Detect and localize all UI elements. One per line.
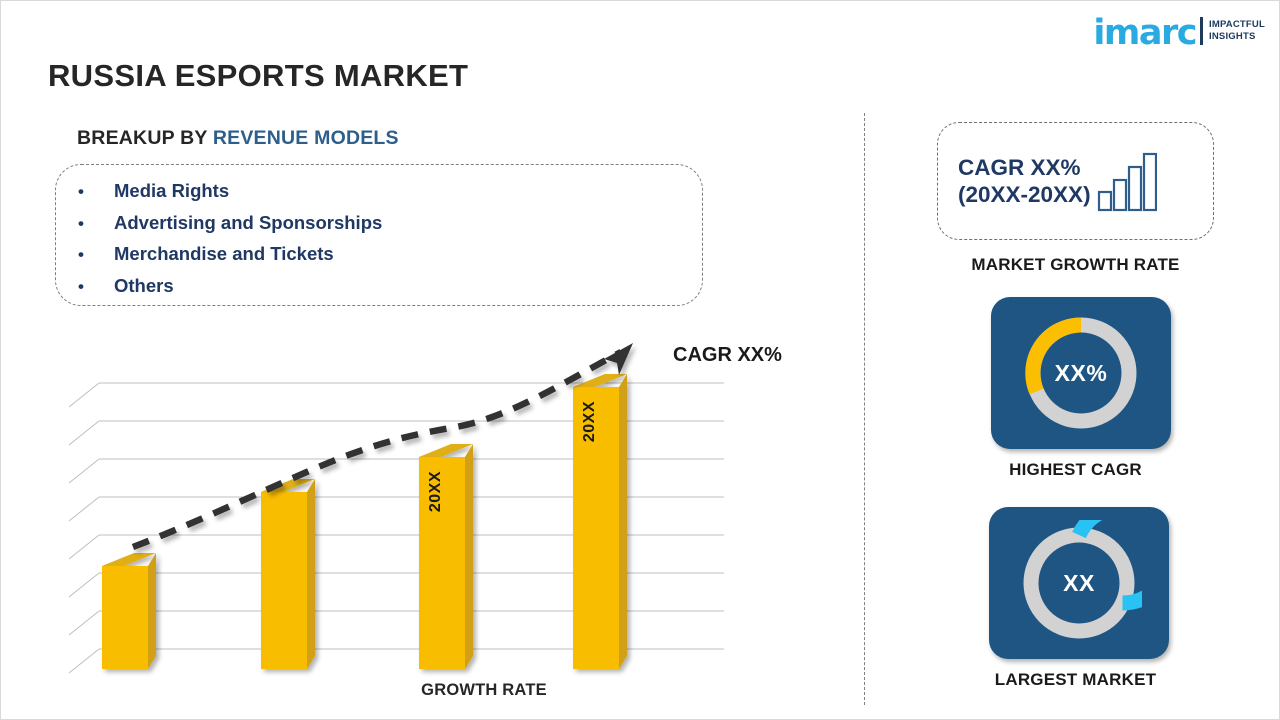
x-axis-label: GROWTH RATE xyxy=(349,681,619,700)
largest-market-value: XX xyxy=(1063,570,1095,597)
list-item-label: Advertising and Sponsorships xyxy=(114,208,382,239)
list-item: • Media Rights xyxy=(56,176,702,208)
highest-cagr-tile: XX% xyxy=(991,297,1171,449)
bullet-icon: • xyxy=(78,272,114,303)
list-item: • Merchandise and Tickets xyxy=(56,239,702,271)
list-item: • Advertising and Sponsorships xyxy=(56,208,702,240)
highest-cagr-caption: HIGHEST CAGR xyxy=(937,460,1214,480)
subtitle-prefix: BREAKUP BY xyxy=(77,127,213,149)
section-divider xyxy=(864,113,865,705)
logo-tagline-line2: INSIGHTS xyxy=(1209,31,1265,43)
market-growth-rate-caption: MARKET GROWTH RATE xyxy=(937,255,1214,275)
bar-chart-icon xyxy=(1097,150,1157,212)
cagr-callout-label: CAGR XX% xyxy=(673,344,782,367)
market-growth-rate-card: CAGR XX% (20XX-20XX) xyxy=(937,122,1214,240)
growth-rate-text: CAGR XX% (20XX-20XX) xyxy=(958,154,1091,209)
imarc-logo: imarc IMPACTFUL INSIGHTS xyxy=(1093,11,1265,51)
segment-list: • Media Rights • Advertising and Sponsor… xyxy=(56,165,702,302)
infographic-page: imarc IMPACTFUL INSIGHTS RUSSIA ESPORTS … xyxy=(0,0,1280,720)
logo-wordmark: imarc xyxy=(1093,16,1196,51)
chart-bar xyxy=(102,553,156,669)
list-item-label: Others xyxy=(114,271,174,302)
segment-breakup-card: • Media Rights • Advertising and Sponsor… xyxy=(55,164,703,306)
list-item-label: Merchandise and Tickets xyxy=(114,239,334,270)
logo-divider xyxy=(1200,17,1203,45)
page-title: RUSSIA ESPORTS MARKET xyxy=(48,58,468,94)
highest-cagr-value: XX% xyxy=(1055,360,1108,387)
bar-label: 20XX xyxy=(427,471,445,512)
bullet-icon: • xyxy=(78,177,114,208)
growth-bar-chart: CAGR XX% 20XX 20XX GROWTH RATE xyxy=(61,331,751,711)
logo-tagline: IMPACTFUL INSIGHTS xyxy=(1209,19,1265,42)
chart-svg xyxy=(61,331,751,681)
list-item-label: Media Rights xyxy=(114,176,229,207)
subtitle: BREAKUP BY REVENUE MODELS xyxy=(77,127,399,150)
subtitle-highlight: REVENUE MODELS xyxy=(213,127,399,149)
largest-market-tile: XX xyxy=(989,507,1169,659)
growth-rate-line2: (20XX-20XX) xyxy=(958,181,1091,208)
list-item: • Others xyxy=(56,271,702,303)
growth-rate-line1: CAGR XX% xyxy=(958,154,1091,181)
logo-tagline-line1: IMPACTFUL xyxy=(1209,19,1265,31)
bullet-icon: • xyxy=(78,209,114,240)
largest-market-caption: LARGEST MARKET xyxy=(937,670,1214,690)
bar-label: 20XX xyxy=(581,401,599,442)
bullet-icon: • xyxy=(78,240,114,271)
trend-line xyxy=(133,343,633,547)
chart-bar xyxy=(261,479,315,669)
